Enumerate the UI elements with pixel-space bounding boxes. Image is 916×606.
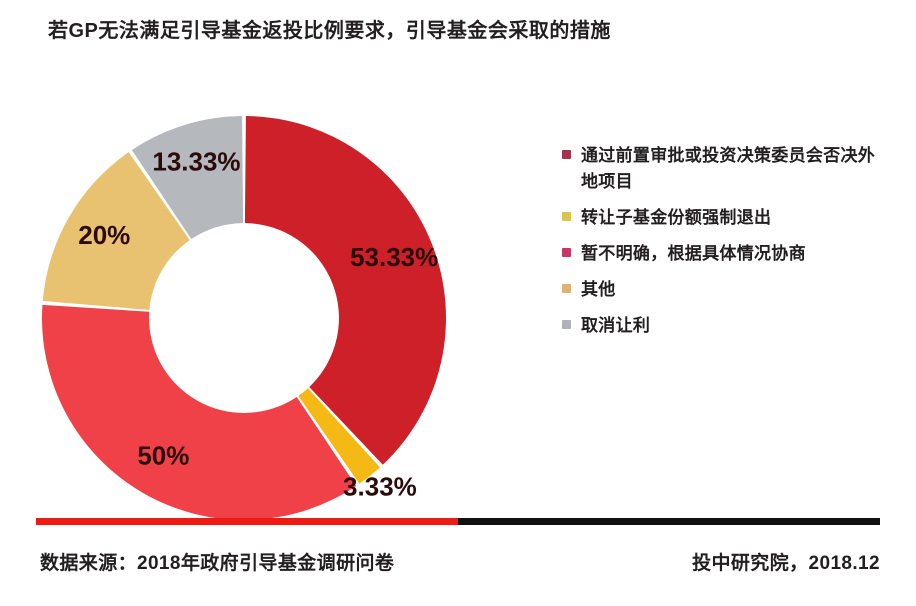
legend-item[interactable]: 其他: [562, 277, 902, 303]
legend-item-label: 取消让利: [581, 313, 650, 339]
donut-slice[interactable]: [42, 305, 356, 520]
donut-slice-label: 3.33%: [343, 471, 417, 501]
donut-chart-svg: 53.33%3.33%50%20%13.33%: [41, 115, 447, 521]
donut-slice-label: 53.33%: [350, 242, 438, 272]
chart-page: 若GP无法满足引导基金返投比例要求，引导基金会采取的措施 53.33%3.33%…: [0, 0, 916, 606]
legend-bullet-icon: [562, 212, 571, 221]
footer-divider-black: [458, 518, 880, 525]
legend: 通过前置审批或投资决策委员会否决外地项目转让子基金份额强制退出暂不明确，根据具体…: [562, 143, 902, 349]
donut-slice-label: 13.33%: [152, 147, 240, 177]
legend-item[interactable]: 转让子基金份额强制退出: [562, 205, 902, 231]
donut-slice-label: 20%: [78, 220, 130, 250]
legend-item-label: 暂不明确，根据具体情况协商: [581, 241, 806, 267]
legend-item-label: 通过前置审批或投资决策委员会否决外地项目: [581, 143, 881, 195]
footer-publisher-text: 投中研究院，2018.12: [692, 548, 880, 575]
legend-item-label: 其他: [581, 277, 616, 303]
legend-bullet-icon: [562, 150, 571, 159]
donut-slices: [42, 116, 446, 520]
legend-item[interactable]: 通过前置审批或投资决策委员会否决外地项目: [562, 143, 902, 195]
legend-item[interactable]: 暂不明确，根据具体情况协商: [562, 241, 902, 267]
legend-bullet-icon: [562, 320, 571, 329]
legend-item-label: 转让子基金份额强制退出: [581, 205, 771, 231]
legend-bullet-icon: [562, 248, 571, 257]
legend-bullet-icon: [562, 284, 571, 293]
footer-divider-red: [36, 518, 458, 525]
page-title: 若GP无法满足引导基金返投比例要求，引导基金会采取的措施: [48, 16, 868, 46]
footer-source-text: 数据来源：2018年政府引导基金调研问卷: [40, 548, 394, 575]
footer-divider: [36, 518, 880, 525]
legend-item[interactable]: 取消让利: [562, 313, 902, 339]
donut-chart: 53.33%3.33%50%20%13.33%: [41, 115, 447, 521]
donut-slice-label: 50%: [137, 441, 189, 471]
